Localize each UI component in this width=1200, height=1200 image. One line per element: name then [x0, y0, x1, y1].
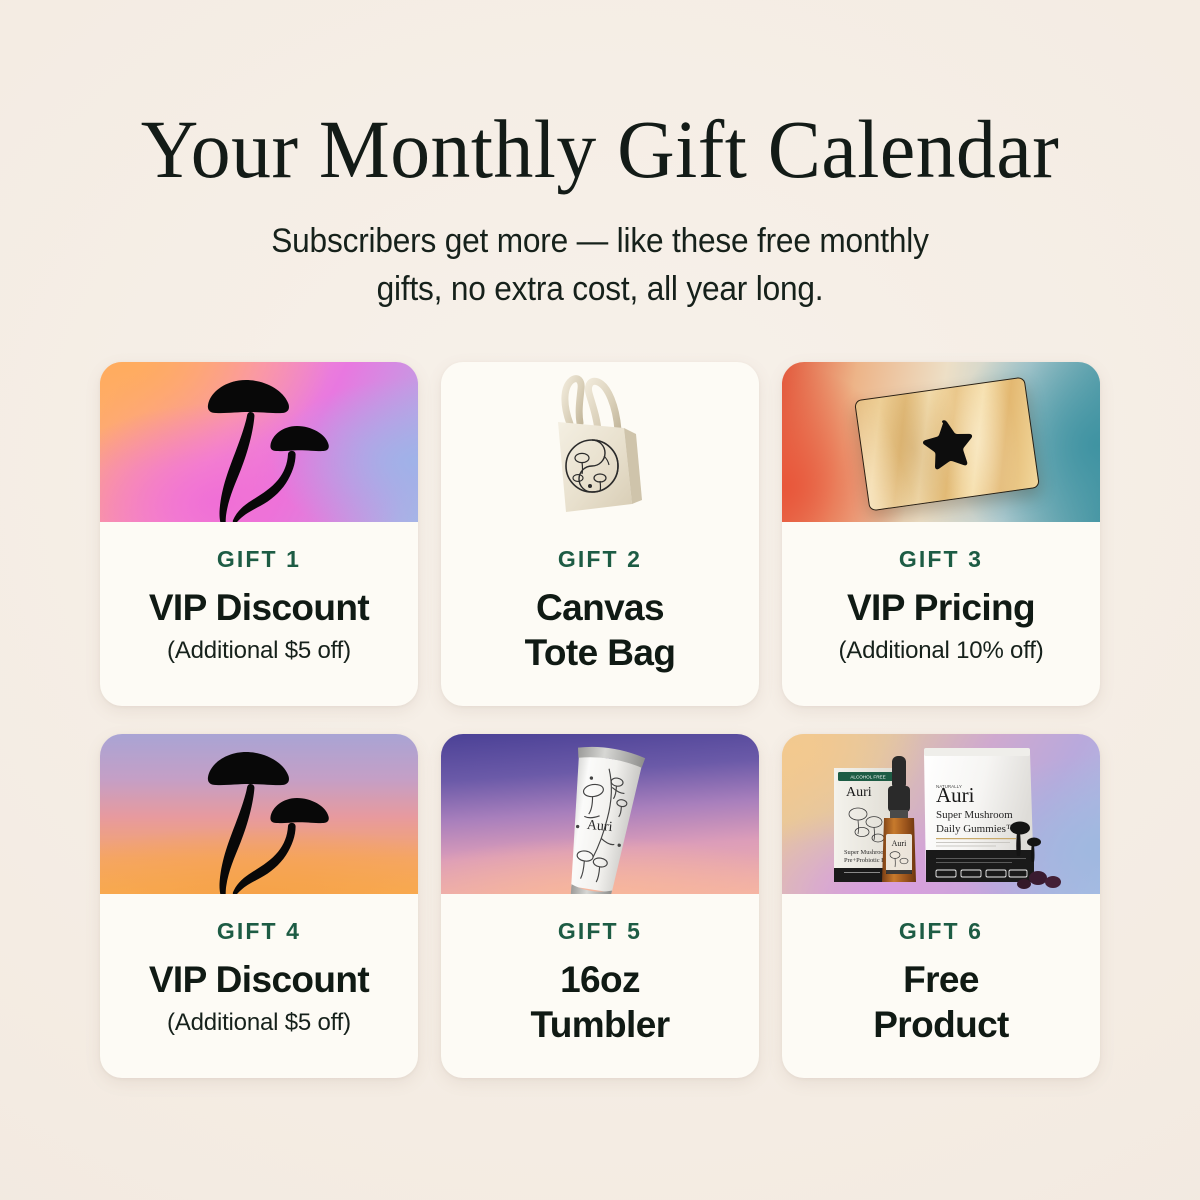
gift-card-5-title-line-2: Tumbler: [530, 1002, 669, 1048]
gift-calendar-page: Your Monthly Gift Calendar Subscribers g…: [0, 0, 1200, 1200]
page-subtitle: Subscribers get more — like these free m…: [116, 217, 1083, 314]
subtitle-line-2: gifts, no extra cost, all year long.: [116, 265, 1083, 313]
gold-star-card-icon: [854, 376, 1040, 511]
gift-card-6-media: Auri NATURALLY Super Mushroom Daily Gumm…: [782, 734, 1100, 894]
gift-card-6-title-line-2: Product: [873, 1002, 1009, 1048]
gift-card-5-label: GIFT 5: [558, 920, 642, 943]
gift-card-2-title: Canvas Tote Bag: [525, 585, 676, 677]
gift-card-3-title: VIP Pricing: [847, 585, 1035, 631]
gift-card-4-media: [100, 734, 418, 894]
product-bundle-icon: Auri NATURALLY Super Mushroom Daily Gumm…: [816, 742, 1066, 894]
gift-card-3-title-line-1: VIP Pricing: [847, 585, 1035, 631]
gift-card-5-title: 16oz Tumbler: [530, 957, 669, 1049]
gift-card-2[interactable]: GIFT 2 Canvas Tote Bag: [441, 362, 759, 706]
mushroom-silhouette-icon: [184, 374, 334, 522]
box-line1-text: Super Mushroom: [844, 849, 889, 856]
gift-card-1-label: GIFT 1: [217, 548, 301, 571]
gift-card-2-body: GIFT 2 Canvas Tote Bag: [441, 522, 759, 706]
gift-card-1-body: GIFT 1 VIP Discount (Additional $5 off): [100, 522, 418, 706]
page-header: Your Monthly Gift Calendar Subscribers g…: [80, 108, 1120, 314]
gift-card-6-label: GIFT 6: [899, 920, 983, 943]
gift-card-3-media: [782, 362, 1100, 522]
subtitle-line-1: Subscribers get more — like these free m…: [116, 217, 1083, 265]
gift-card-4-title: VIP Discount: [149, 957, 369, 1003]
gift-card-1-title-line-1: VIP Discount: [149, 585, 369, 631]
gift-card-5[interactable]: Auri GIFT 5 16oz Tumbler: [441, 734, 759, 1078]
gift-card-6-title-line-1: Free: [873, 957, 1009, 1003]
gift-card-4-title-line-1: VIP Discount: [149, 957, 369, 1003]
tumbler-icon: Auri: [535, 734, 665, 894]
gift-card-3[interactable]: GIFT 3 VIP Pricing (Additional 10% off): [782, 362, 1100, 706]
mushroom-silhouette-icon: [184, 746, 334, 894]
gift-card-1-title: VIP Discount: [149, 585, 369, 631]
box-brand-text: Auri: [846, 785, 872, 800]
gift-card-3-label: GIFT 3: [899, 548, 983, 571]
gift-card-2-title-line-1: Canvas: [525, 585, 676, 631]
gift-card-4-note: (Additional $5 off): [167, 1009, 351, 1038]
pouch-line1-text: Super Mushroom: [936, 809, 1013, 821]
gift-card-1[interactable]: GIFT 1 VIP Discount (Additional $5 off): [100, 362, 418, 706]
svg-text:NATURALLY: NATURALLY: [936, 784, 962, 789]
svg-text:Auri: Auri: [586, 817, 613, 834]
star-icon: [917, 414, 978, 473]
gift-card-3-body: GIFT 3 VIP Pricing (Additional 10% off): [782, 522, 1100, 706]
gift-card-6-body: GIFT 6 Free Product: [782, 894, 1100, 1078]
page-title: Your Monthly Gift Calendar: [101, 108, 1099, 191]
gift-card-3-note: (Additional 10% off): [838, 637, 1043, 666]
canvas-tote-bag-icon: [520, 368, 680, 522]
gift-card-2-media: [441, 362, 759, 522]
svg-text:Auri: Auri: [892, 839, 907, 848]
gift-card-5-body: GIFT 5 16oz Tumbler: [441, 894, 759, 1078]
gift-card-1-note: (Additional $5 off): [167, 637, 351, 666]
gift-card-4-body: GIFT 4 VIP Discount (Additional $5 off): [100, 894, 418, 1078]
gift-card-2-title-line-2: Tote Bag: [525, 630, 676, 676]
gift-card-2-label: GIFT 2: [558, 548, 642, 571]
gift-card-grid: GIFT 1 VIP Discount (Additional $5 off): [100, 362, 1100, 1078]
gift-card-4[interactable]: GIFT 4 VIP Discount (Additional $5 off): [100, 734, 418, 1078]
gift-card-5-title-line-1: 16oz: [530, 957, 669, 1003]
pouch-line2-text: Daily Gummies™: [936, 823, 1017, 835]
box-badge-text: ALCOHOL FREE: [850, 774, 885, 779]
gift-card-6[interactable]: Auri NATURALLY Super Mushroom Daily Gumm…: [782, 734, 1100, 1078]
gift-card-6-title: Free Product: [873, 957, 1009, 1049]
gift-card-4-label: GIFT 4: [217, 920, 301, 943]
gift-card-1-media: [100, 362, 418, 522]
gift-card-5-media: Auri: [441, 734, 759, 894]
